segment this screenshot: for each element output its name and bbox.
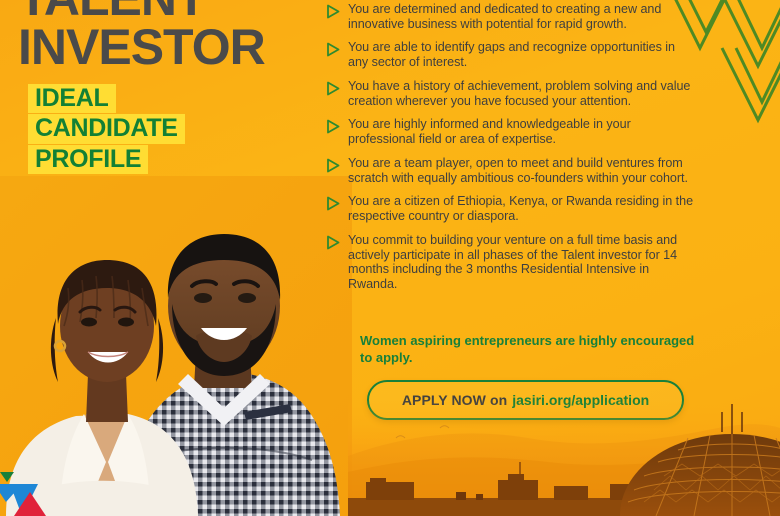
play-triangle-icon (326, 196, 340, 211)
list-item-text: You are a citizen of Ethiopia, Kenya, or… (348, 194, 698, 223)
list-item-text: You commit to building your venture on a… (348, 233, 698, 292)
play-triangle-icon (326, 81, 340, 96)
play-triangle-icon (326, 119, 340, 134)
list-item-text: You have a history of achievement, probl… (348, 79, 698, 108)
poster-canvas: TALENT INVESTOR IDEAL CANDIDATE PROFILE (0, 0, 780, 516)
list-item: You are highly informed and knowledgeabl… (326, 117, 698, 146)
profile-subtitle: IDEAL CANDIDATE PROFILE (28, 84, 328, 175)
list-item-text: You are determined and dedicated to crea… (348, 2, 698, 31)
play-triangle-icon (326, 158, 340, 173)
list-item: You are able to identify gaps and recogn… (326, 40, 698, 69)
list-item-text: You are a team player, open to meet and … (348, 156, 698, 185)
list-item: You commit to building your venture on a… (326, 233, 698, 292)
city-skyline-silhouette (348, 398, 780, 516)
logo-chevron-mark (0, 472, 78, 516)
profile-subtitle-line-1: IDEAL (28, 84, 116, 113)
list-item-text: You are able to identify gaps and recogn… (348, 40, 698, 69)
profile-subtitle-line-3: PROFILE (28, 145, 148, 174)
page-title: TALENT INVESTOR (18, 0, 348, 72)
list-item: You are a citizen of Ethiopia, Kenya, or… (326, 194, 698, 223)
profile-subtitle-line-2: CANDIDATE (28, 114, 185, 143)
list-item: You are a team player, open to meet and … (326, 156, 698, 185)
list-item: You are determined and dedicated to crea… (326, 2, 698, 31)
women-encouragement-note: Women aspiring entrepreneurs are highly … (360, 333, 710, 367)
bullet-list: You are determined and dedicated to crea… (326, 2, 698, 301)
play-triangle-icon (326, 42, 340, 57)
headline-line-2: INVESTOR (18, 23, 348, 72)
entrepreneurs-photo (0, 176, 352, 516)
play-triangle-icon (326, 4, 340, 19)
list-item-text: You are highly informed and knowledgeabl… (348, 117, 698, 146)
list-item: You have a history of achievement, probl… (326, 79, 698, 108)
play-triangle-icon (326, 235, 340, 250)
